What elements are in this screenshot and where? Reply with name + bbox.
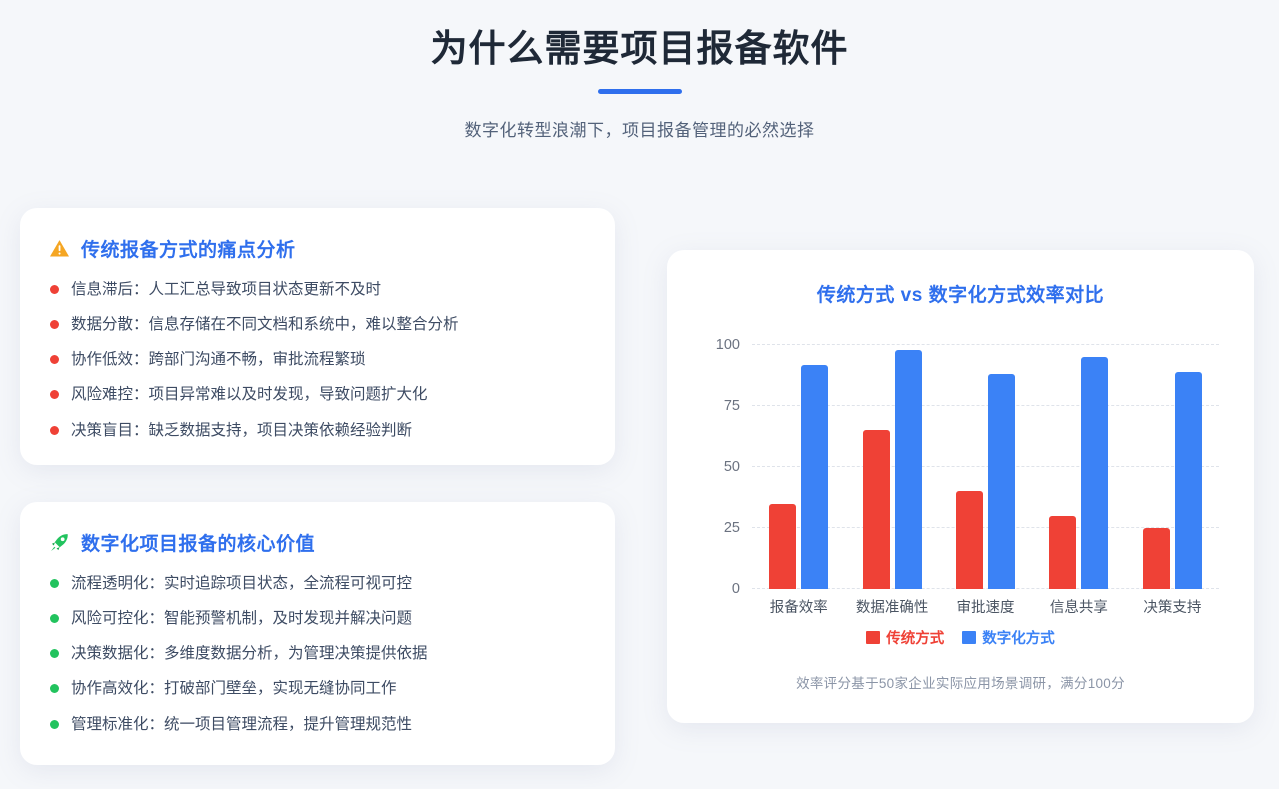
chart-y-tick-label: 25 (724, 520, 740, 536)
list-item-text: 管理标准化：统一项目管理流程，提升管理规范性 (71, 715, 412, 735)
legend-swatch-icon (962, 631, 976, 644)
list-item-text: 信息滞后：人工汇总导致项目状态更新不及时 (71, 280, 381, 300)
chart-bar-groups: 报备效率数据准确性审批速度信息共享决策支持 (752, 345, 1219, 589)
legend-label: 数字化方式 (982, 627, 1055, 648)
core-value-list: 流程透明化：实时追踪项目状态，全流程可视可控 风险可控化：智能预警机制，及时发现… (20, 556, 615, 735)
chart-x-tick-label: 数据准确性 (856, 596, 929, 617)
pain-points-card-header: 传统报备方式的痛点分析 (20, 208, 615, 262)
chart-bar[interactable] (956, 491, 983, 589)
page-title: 为什么需要项目报备软件 (0, 26, 1279, 72)
core-value-card-header: 数字化项目报备的核心价值 (20, 502, 615, 556)
page-header: 为什么需要项目报备软件 数字化转型浪潮下，项目报备管理的必然选择 (0, 0, 1279, 141)
core-value-card-title: 数字化项目报备的核心价值 (81, 529, 315, 556)
pain-points-card-title: 传统报备方式的痛点分析 (81, 235, 296, 262)
list-item-text: 协作高效化：打破部门壁垒，实现无缝协同工作 (71, 679, 397, 699)
page-subtitle: 数字化转型浪潮下，项目报备管理的必然选择 (0, 116, 1279, 141)
list-item-text: 风险难控：项目异常难以及时发现，导致问题扩大化 (71, 385, 428, 405)
bullet-icon (50, 355, 59, 364)
chart-bar-group: 决策支持 (1126, 345, 1219, 589)
chart-bar-group: 报备效率 (752, 345, 845, 589)
list-item-text: 协作低效：跨部门沟通不畅，审批流程繁琐 (71, 350, 366, 370)
warning-triangle-icon (48, 238, 70, 260)
chart-note: 效率评分基于50家企业实际应用场景调研，满分100分 (667, 672, 1254, 692)
chart-x-tick-label: 决策支持 (1143, 596, 1201, 617)
list-item: 风险难控：项目异常难以及时发现，导致问题扩大化 (50, 385, 615, 405)
bullet-icon (50, 720, 59, 729)
list-item: 数据分散：信息存储在不同文档和系统中，难以整合分析 (50, 315, 615, 335)
list-item-text: 决策数据化：多维度数据分析，为管理决策提供依据 (71, 644, 428, 664)
bullet-icon (50, 579, 59, 588)
chart-x-tick-label: 报备效率 (770, 596, 828, 617)
rocket-icon (48, 532, 70, 554)
chart-bar-group: 信息共享 (1032, 345, 1125, 589)
chart-bar[interactable] (769, 504, 796, 589)
bullet-icon (50, 684, 59, 693)
bullet-icon (50, 285, 59, 294)
efficiency-comparison-chart-card: 传统方式 vs 数字化方式效率对比 0255075100 报备效率数据准确性审批… (667, 250, 1254, 723)
bullet-icon (50, 649, 59, 658)
chart-y-tick-label: 100 (716, 337, 740, 353)
list-item-text: 风险可控化：智能预警机制，及时发现并解决问题 (71, 609, 412, 629)
chart-x-tick-label: 信息共享 (1050, 596, 1108, 617)
list-item: 流程透明化：实时追踪项目状态，全流程可视可控 (50, 574, 615, 594)
legend-label: 传统方式 (886, 627, 944, 648)
chart-y-tick-label: 75 (724, 398, 740, 414)
chart-title: 传统方式 vs 数字化方式效率对比 (667, 250, 1254, 307)
list-item: 决策数据化：多维度数据分析，为管理决策提供依据 (50, 644, 615, 664)
legend-item-digital[interactable]: 数字化方式 (962, 627, 1055, 648)
pain-points-card: 传统报备方式的痛点分析 信息滞后：人工汇总导致项目状态更新不及时 数据分散：信息… (20, 208, 615, 465)
title-divider (598, 89, 682, 94)
legend-swatch-icon (866, 631, 880, 644)
chart-bar[interactable] (1143, 528, 1170, 589)
list-item-text: 流程透明化：实时追踪项目状态，全流程可视可控 (71, 574, 412, 594)
chart-x-tick-label: 审批速度 (957, 596, 1015, 617)
chart-plot: 0255075100 报备效率数据准确性审批速度信息共享决策支持 (752, 345, 1219, 589)
chart-plot-area: 0255075100 报备效率数据准确性审批速度信息共享决策支持 (667, 345, 1254, 589)
bullet-icon (50, 426, 59, 435)
chart-bar[interactable] (1081, 357, 1108, 589)
content-area: 传统报备方式的痛点分析 信息滞后：人工汇总导致项目状态更新不及时 数据分散：信息… (0, 168, 1279, 789)
chart-bar[interactable] (801, 365, 828, 589)
chart-bar[interactable] (1049, 516, 1076, 589)
chart-y-tick-label: 0 (732, 581, 740, 597)
list-item: 风险可控化：智能预警机制，及时发现并解决问题 (50, 609, 615, 629)
chart-legend: 传统方式 数字化方式 (667, 627, 1254, 648)
bullet-icon (50, 390, 59, 399)
list-item: 信息滞后：人工汇总导致项目状态更新不及时 (50, 280, 615, 300)
list-item-text: 数据分散：信息存储在不同文档和系统中，难以整合分析 (71, 315, 459, 335)
core-value-card: 数字化项目报备的核心价值 流程透明化：实时追踪项目状态，全流程可视可控 风险可控… (20, 502, 615, 765)
chart-bar-group: 数据准确性 (845, 345, 938, 589)
chart-bar[interactable] (863, 430, 890, 589)
list-item-text: 决策盲目：缺乏数据支持，项目决策依赖经验判断 (71, 421, 412, 441)
list-item: 协作高效化：打破部门壁垒，实现无缝协同工作 (50, 679, 615, 699)
legend-item-traditional[interactable]: 传统方式 (866, 627, 944, 648)
bullet-icon (50, 614, 59, 623)
chart-bar[interactable] (988, 374, 1015, 589)
chart-bar[interactable] (1175, 372, 1202, 589)
chart-bar-group: 审批速度 (939, 345, 1032, 589)
pain-points-list: 信息滞后：人工汇总导致项目状态更新不及时 数据分散：信息存储在不同文档和系统中，… (20, 262, 615, 441)
chart-bar[interactable] (895, 350, 922, 589)
list-item: 协作低效：跨部门沟通不畅，审批流程繁琐 (50, 350, 615, 370)
chart-y-tick-label: 50 (724, 459, 740, 475)
list-item: 管理标准化：统一项目管理流程，提升管理规范性 (50, 715, 615, 735)
bullet-icon (50, 320, 59, 329)
list-item: 决策盲目：缺乏数据支持，项目决策依赖经验判断 (50, 421, 615, 441)
